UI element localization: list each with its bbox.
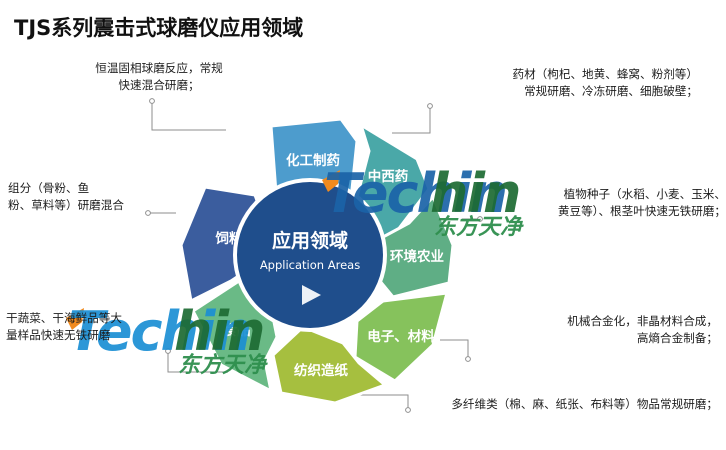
center-hub[interactable]: 应用领域 Application Areas: [233, 178, 387, 332]
callout-tcm-western-medicine: 药材（枸杞、地黄、蜂窝、粉剂等）常规研磨、冷冻研磨、细胞破壁；: [398, 66, 698, 100]
segment-label-electronics-materials: 电子、材料: [367, 328, 435, 345]
hub-label-en: Application Areas: [260, 258, 360, 272]
hub-label-cn: 应用领域: [272, 229, 348, 252]
segment-label-textile-papermaking: 纺织造纸: [294, 362, 348, 379]
application-areas-wheel: 化工制药 中西药 环境农业 电子、材料 纺织造纸: [145, 105, 475, 415]
segment-label-chemical-pharma: 化工制药: [286, 152, 340, 169]
segment-label-environment-agriculture: 环境农业: [390, 248, 444, 265]
callout-feed: 组分（骨粉、鱼粉、草料等）研磨混合: [8, 180, 148, 214]
callout-chemical-pharma: 恒温固相球磨反应，常规快速混合研磨；: [74, 60, 244, 94]
segment-electronics-materials[interactable]: 电子、材料: [355, 293, 447, 381]
page-title: TJS系列震击式球磨仪应用领域: [14, 12, 303, 42]
infographic-canvas: TJS系列震击式球磨仪应用领域: [0, 0, 726, 450]
callout-environment-agriculture: 植物种子（水稻、小麦、玉米、黄豆等）、根茎叶快速无铁研磨；: [482, 186, 726, 220]
callout-food: 干蔬菜、干海鲜品等大量样品快速无铁研磨: [6, 310, 168, 344]
callout-textile-papermaking: 多纤维类（棉、麻、纸张、布料等）物品常规研磨；: [388, 396, 718, 413]
segment-label-food: 食品: [224, 322, 251, 339]
callout-electronics-materials: 机械合金化，非晶材料合成，高熵合金制备；: [468, 313, 718, 347]
segment-label-tcm-western-medicine: 中西药: [368, 168, 409, 185]
